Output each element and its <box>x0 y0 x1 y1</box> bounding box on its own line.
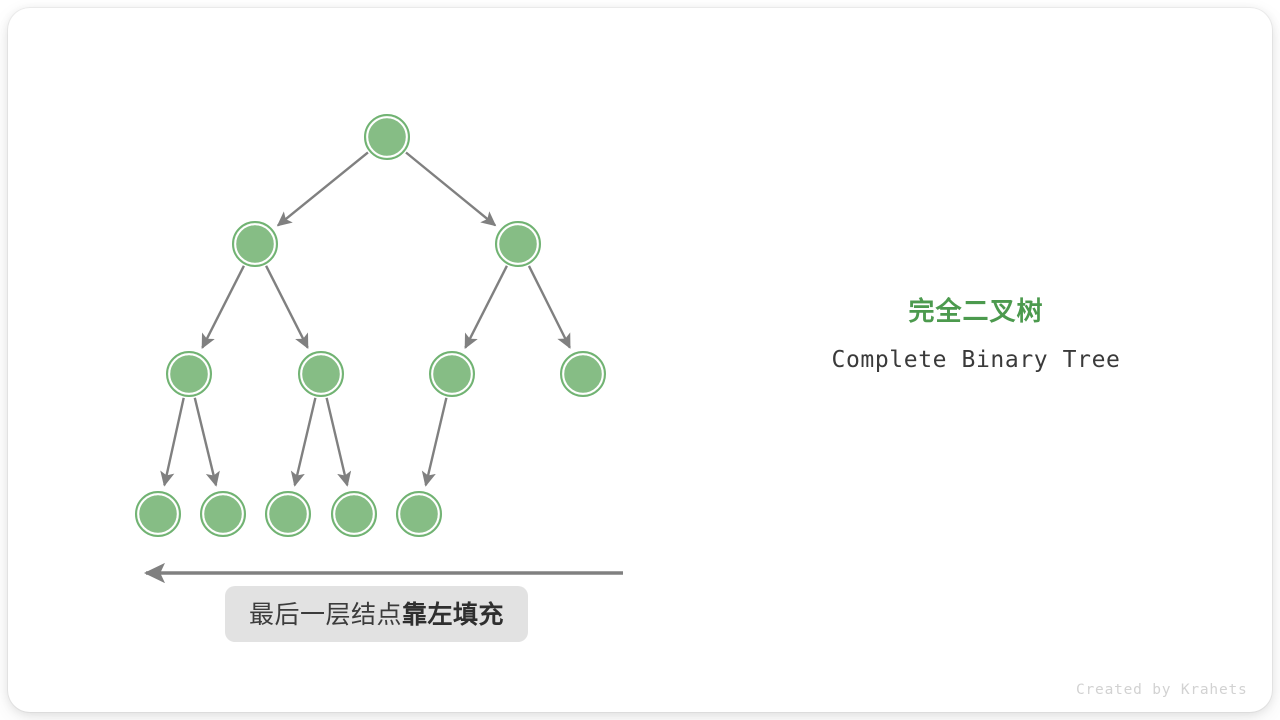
tree-node <box>496 222 540 266</box>
tree-node <box>201 492 245 536</box>
diagram-card: 最后一层结点靠左填充 完全二叉树 Complete Binary Tree Cr… <box>8 8 1272 712</box>
tree-node <box>136 492 180 536</box>
credit-text: Created by Krahets <box>1076 682 1248 698</box>
node-fill <box>236 225 273 262</box>
fill-direction-caption: 最后一层结点靠左填充 <box>225 586 528 642</box>
node-fill <box>400 495 437 532</box>
tree-edges <box>164 152 569 485</box>
tree-edge <box>278 152 368 225</box>
tree-edge <box>327 398 348 485</box>
tree-node <box>167 352 211 396</box>
tree-edge <box>529 266 570 348</box>
tree-node <box>365 115 409 159</box>
node-fill <box>499 225 536 262</box>
tree-node <box>233 222 277 266</box>
title-block: 完全二叉树 Complete Binary Tree <box>736 296 1216 373</box>
tree-node <box>299 352 343 396</box>
screenshot-canvas: 最后一层结点靠左填充 完全二叉树 Complete Binary Tree Cr… <box>0 0 1280 720</box>
tree-node <box>430 352 474 396</box>
tree-node <box>561 352 605 396</box>
caption-prefix: 最后一层结点 <box>249 601 402 629</box>
tree-edge <box>202 266 244 348</box>
caption-bold: 靠左填充 <box>402 601 504 629</box>
tree-edge <box>406 152 495 225</box>
tree-edge <box>195 398 216 486</box>
title-chinese: 完全二叉树 <box>736 296 1216 327</box>
tree-edge <box>266 266 308 348</box>
tree-node <box>397 492 441 536</box>
node-fill <box>302 355 339 392</box>
tree-node <box>332 492 376 536</box>
node-fill <box>269 495 306 532</box>
title-english: Complete Binary Tree <box>736 347 1216 373</box>
node-fill <box>204 495 241 532</box>
node-fill <box>433 355 470 392</box>
tree-edge <box>426 398 447 485</box>
node-fill <box>368 118 405 155</box>
node-fill <box>170 355 207 392</box>
tree-nodes <box>136 115 605 536</box>
tree-edge <box>295 398 316 485</box>
tree-edge <box>465 266 507 348</box>
node-fill <box>335 495 372 532</box>
tree-node <box>266 492 310 536</box>
tree-edge <box>164 398 183 485</box>
node-fill <box>139 495 176 532</box>
node-fill <box>564 355 601 392</box>
